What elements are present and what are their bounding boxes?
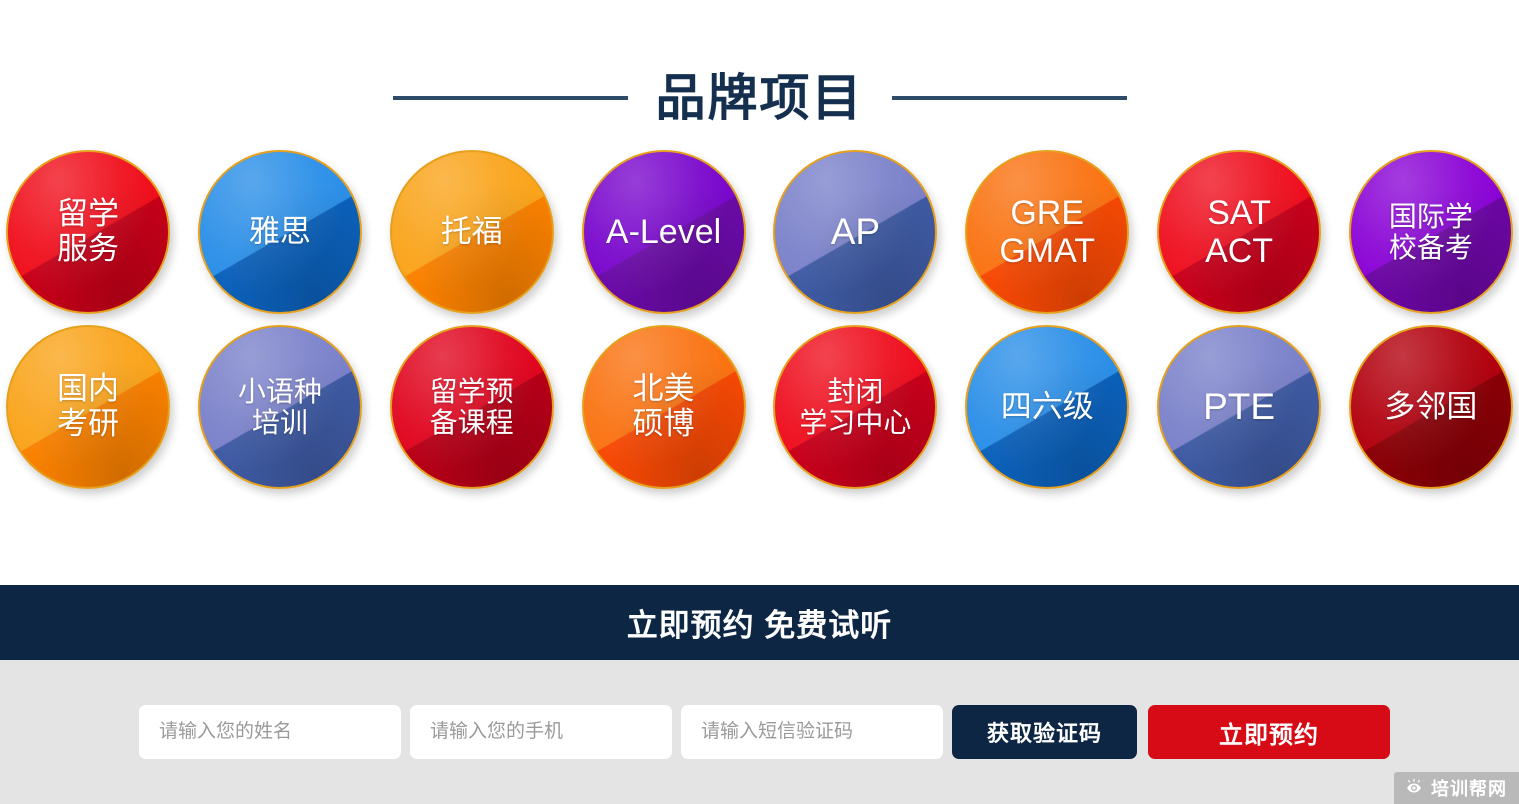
- get-sms-code-button[interactable]: 获取验证码: [952, 705, 1137, 759]
- booking-banner-text: 立即预约 免费试听: [627, 600, 893, 645]
- program-circle[interactable]: SAT ACT: [1157, 150, 1321, 314]
- program-grid: 留学 服务雅思托福A-LevelAPGRE GMATSAT ACT国际学 校备考…: [0, 150, 1519, 489]
- program-label: 北美 硕博: [627, 372, 701, 441]
- booking-form: 获取验证码 立即预约: [0, 660, 1519, 804]
- booking-banner: 立即预约 免费试听: [0, 585, 1519, 660]
- watermark-label: 培训帮网: [1431, 775, 1507, 801]
- program-circle[interactable]: 多邻国: [1349, 325, 1513, 489]
- program-label: 四六级: [995, 390, 1100, 425]
- name-input[interactable]: [139, 705, 401, 759]
- program-circle[interactable]: 雅思: [198, 150, 362, 314]
- program-label: AP: [825, 211, 886, 252]
- program-label: GRE GMAT: [993, 194, 1101, 270]
- site-watermark: 培训帮网: [1394, 772, 1519, 804]
- program-row-1: 留学 服务雅思托福A-LevelAPGRE GMATSAT ACT国际学 校备考: [6, 150, 1513, 314]
- program-circle[interactable]: 北美 硕博: [582, 325, 746, 489]
- program-label: 国内 考研: [51, 372, 125, 441]
- program-circle[interactable]: 小语种 培训: [198, 325, 362, 489]
- program-label: 托福: [435, 215, 509, 250]
- title-rule-left: [393, 96, 628, 100]
- title-rule-right: [892, 96, 1127, 100]
- sun-eye-icon: [1404, 778, 1424, 798]
- program-label: A-Level: [600, 213, 727, 251]
- program-circle[interactable]: GRE GMAT: [965, 150, 1129, 314]
- program-label: 雅思: [243, 215, 317, 250]
- program-label: 多邻国: [1378, 390, 1483, 425]
- program-circle[interactable]: 留学 服务: [6, 150, 170, 314]
- program-circle[interactable]: 留学预 备课程: [390, 325, 554, 489]
- program-label: 封闭 学习中心: [793, 376, 917, 439]
- program-circle[interactable]: A-Level: [582, 150, 746, 314]
- program-circle[interactable]: 封闭 学习中心: [773, 325, 937, 489]
- page-title-block: 品牌项目: [0, 0, 1519, 150]
- submit-booking-button[interactable]: 立即预约: [1148, 705, 1390, 759]
- program-label: 留学预 备课程: [424, 376, 520, 439]
- program-circle[interactable]: PTE: [1157, 325, 1321, 489]
- booking-form-row: 获取验证码 立即预约: [139, 705, 1390, 759]
- program-circle[interactable]: 托福: [390, 150, 554, 314]
- program-label: 小语种 培训: [232, 376, 328, 439]
- program-label: 国际学 校备考: [1383, 201, 1479, 264]
- phone-input[interactable]: [410, 705, 672, 759]
- program-circle[interactable]: 四六级: [965, 325, 1129, 489]
- sms-code-input[interactable]: [681, 705, 943, 759]
- program-label: PTE: [1197, 386, 1281, 427]
- program-circle[interactable]: 国际学 校备考: [1349, 150, 1513, 314]
- program-label: SAT ACT: [1199, 194, 1279, 270]
- program-label: 留学 服务: [51, 197, 125, 266]
- program-row-2: 国内 考研小语种 培训留学预 备课程北美 硕博封闭 学习中心四六级PTE多邻国: [6, 325, 1513, 489]
- program-circle[interactable]: AP: [773, 150, 937, 314]
- program-circle[interactable]: 国内 考研: [6, 325, 170, 489]
- page-title: 品牌项目: [656, 73, 864, 123]
